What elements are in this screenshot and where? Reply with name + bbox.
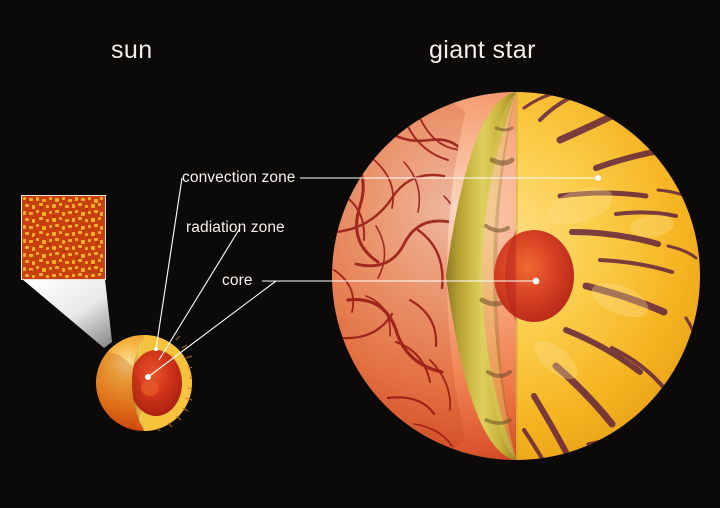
giant-star-illustration	[0, 0, 720, 508]
magnifier-cone	[22, 279, 112, 348]
title-sun: sun	[111, 36, 153, 65]
label-core: core	[222, 272, 253, 290]
label-convection-zone: convection zone	[182, 169, 296, 187]
granulation-inset	[22, 196, 105, 279]
title-giant-star: giant star	[429, 36, 536, 65]
leader-sun-core	[148, 281, 276, 377]
leader-sun-convection	[156, 178, 182, 349]
label-radiation-zone: radiation zone	[186, 219, 285, 237]
figure-canvas: sun giant star convection zone radiation…	[0, 0, 720, 508]
granulation-texture	[22, 196, 105, 279]
sun-illustration	[70, 323, 195, 448]
